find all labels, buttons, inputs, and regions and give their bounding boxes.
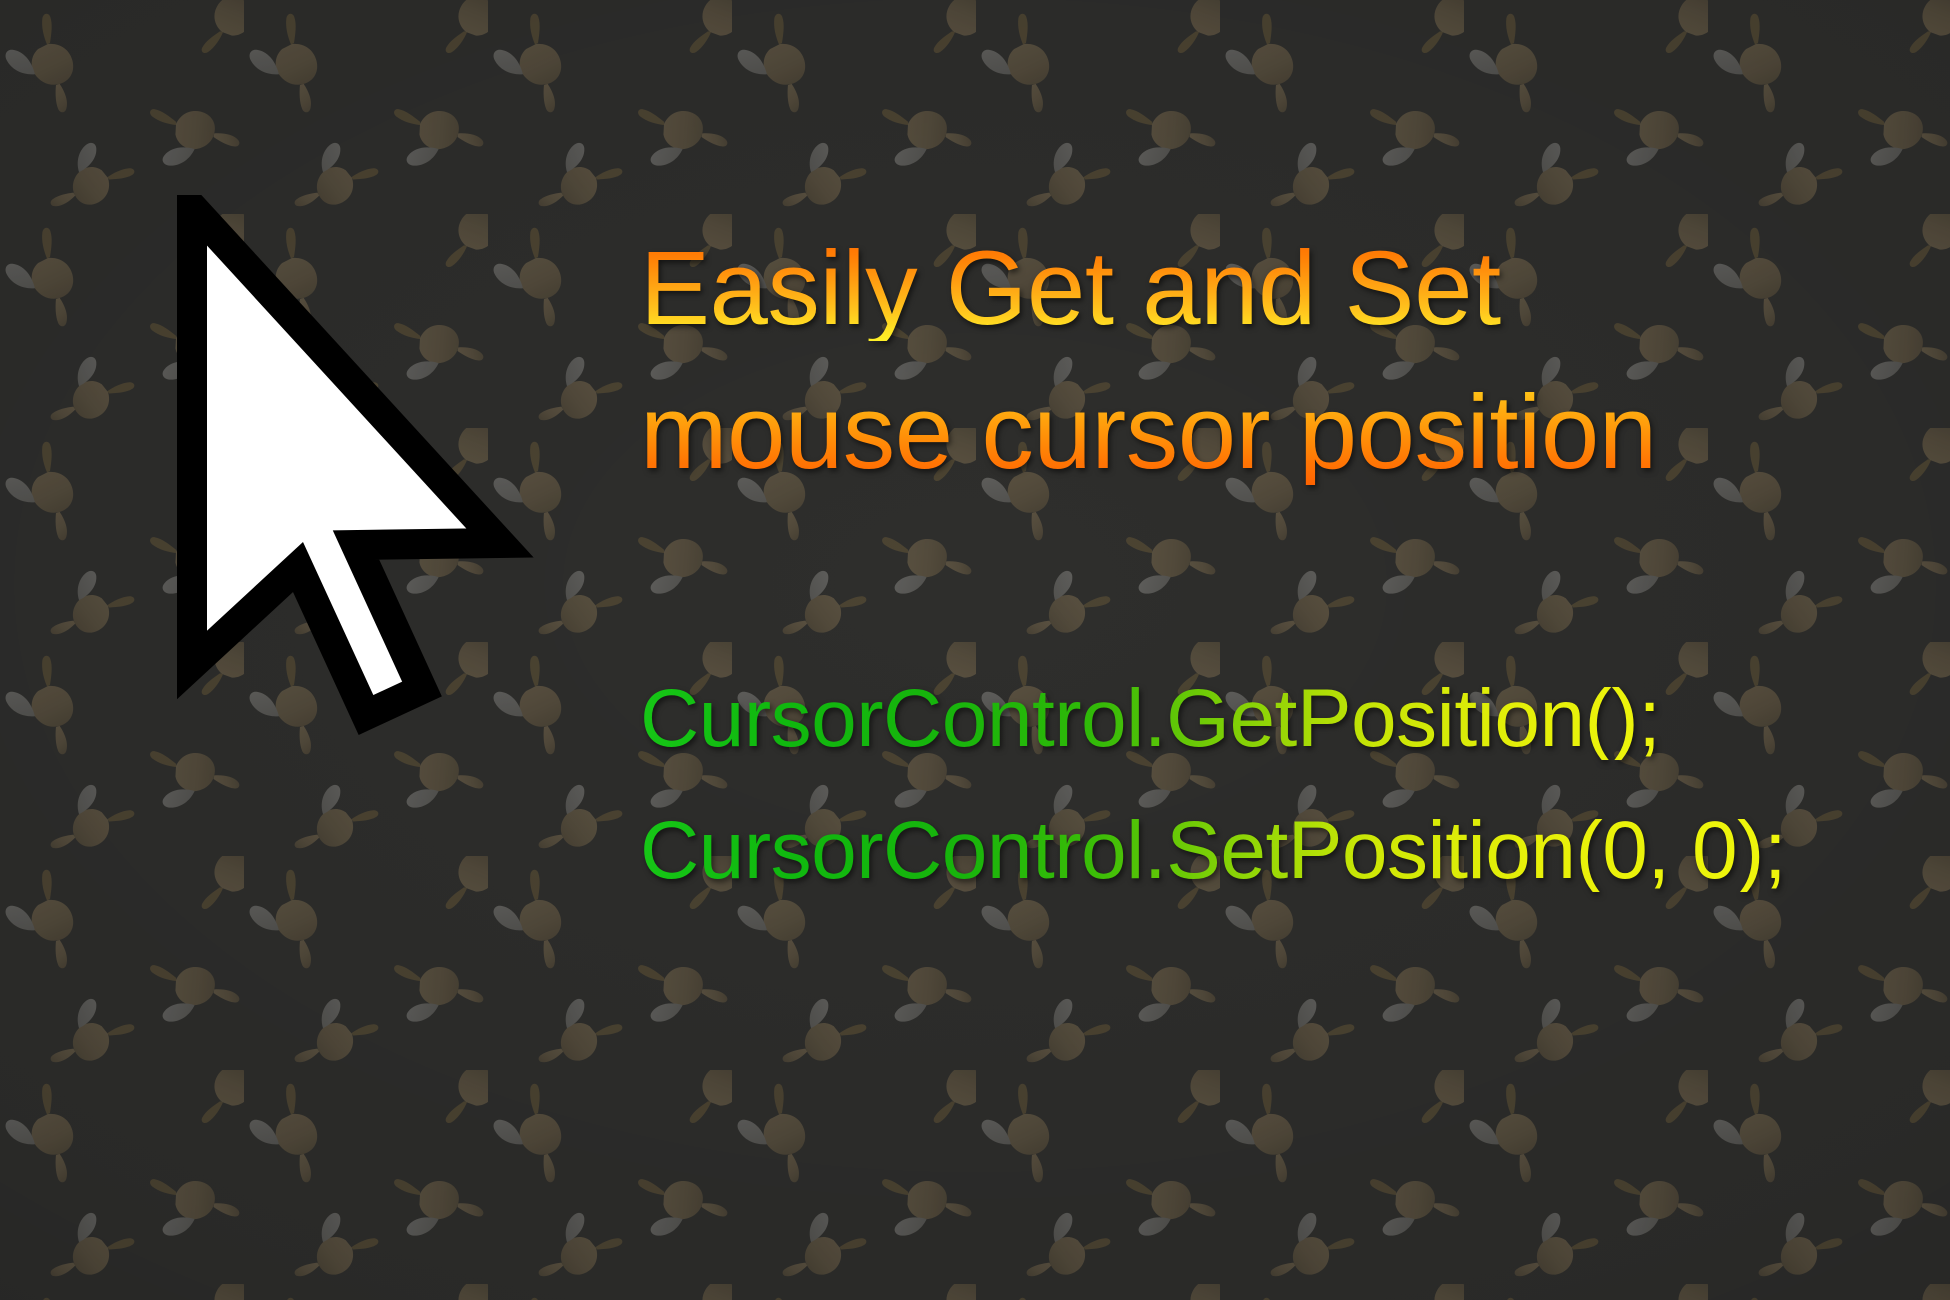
headline-line-2: mouse cursor position [640,380,1657,485]
slide-canvas: Easily Get and Set mouse cursor position… [0,0,1950,1300]
code-snippet-get-position: CursorControl.GetPosition(); [640,678,1660,760]
code-snippet-set-position: CursorControl.SetPosition(0, 0); [640,810,1786,892]
headline-line-1: Easily Get and Set [640,236,1501,341]
text-content: Easily Get and Set mouse cursor position… [640,0,1900,1300]
mouse-cursor-arrow-icon [170,195,590,755]
